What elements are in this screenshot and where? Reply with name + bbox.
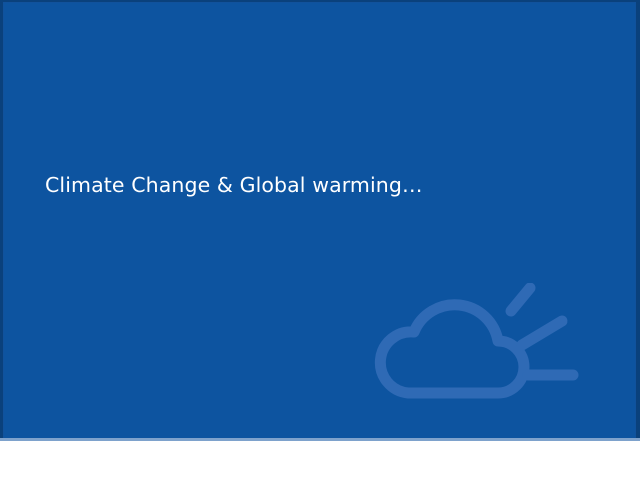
cloud-with-sun-rays-icon: [370, 283, 595, 403]
presentation-slide: Climate Change & Global warming… ©2009 C…: [0, 0, 640, 480]
slide-stage: Climate Change & Global warming…: [0, 0, 640, 438]
slide-title: Climate Change & Global warming…: [45, 172, 423, 198]
slide-footer: ©2009 Copyright Llight Blues light blues…: [0, 441, 640, 480]
cloud-sun-artwork: [370, 283, 595, 403]
